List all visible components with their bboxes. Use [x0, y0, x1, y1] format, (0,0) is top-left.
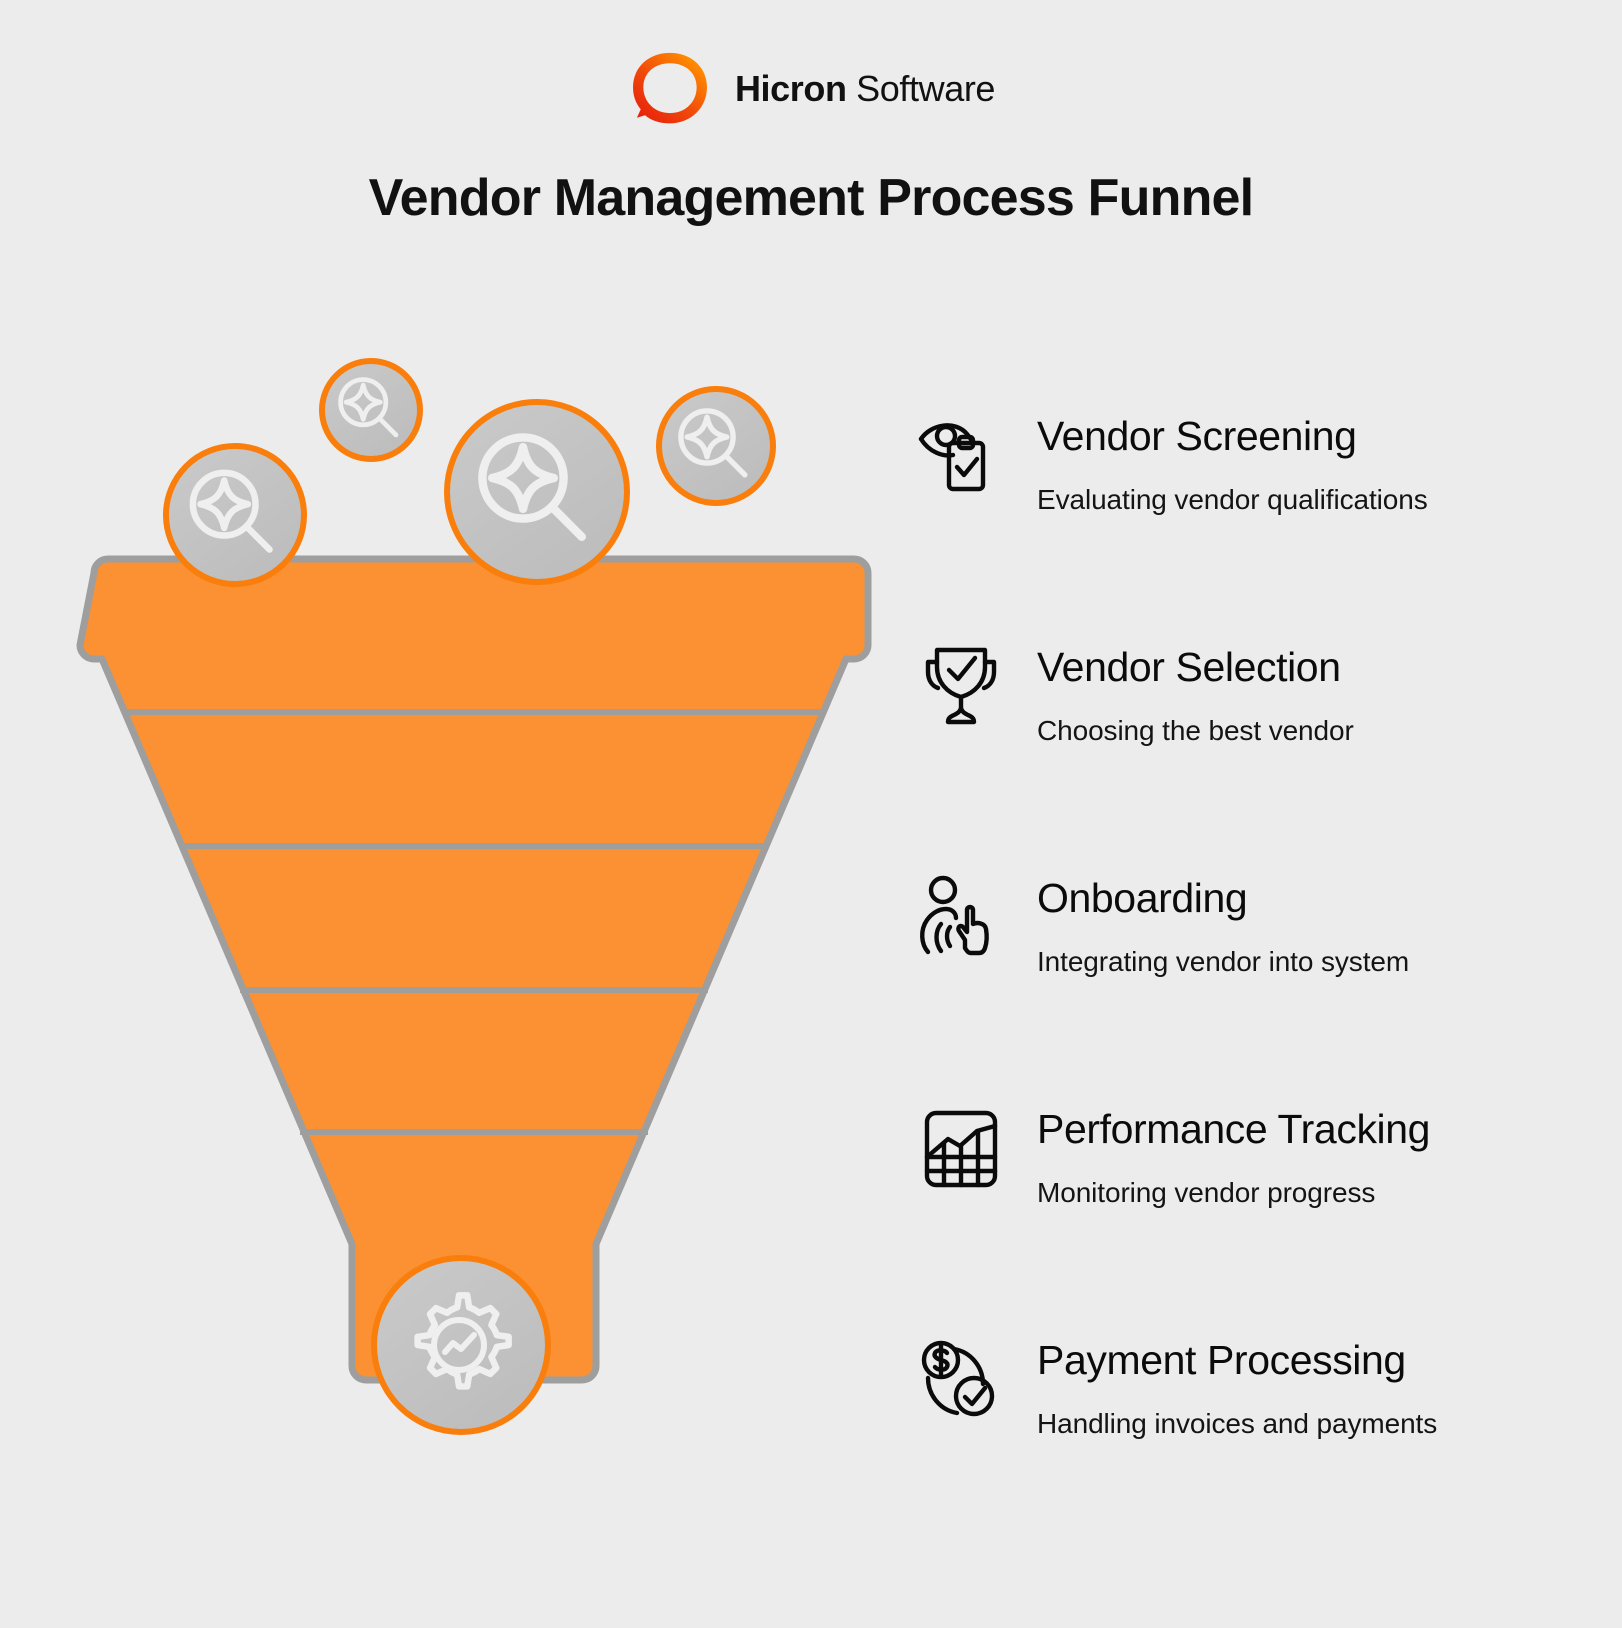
step-item-vendor-screening: Vendor Screening Evaluating vendor quali… [915, 400, 1575, 631]
brand-name-light: Software [847, 68, 995, 109]
hicron-ring-logo-icon [627, 46, 713, 132]
funnel-svg [40, 355, 900, 1475]
step-title: Payment Processing [1037, 1338, 1575, 1383]
brand-name: Hicron Software [735, 68, 995, 110]
step-title: Vendor Selection [1037, 645, 1575, 690]
step-title: Vendor Screening [1037, 414, 1575, 459]
step-item-payment-processing: Payment Processing Handling invoices and… [915, 1324, 1575, 1555]
step-title: Onboarding [1037, 876, 1575, 921]
input-bubble [166, 446, 304, 584]
step-description: Integrating vendor into system [1037, 945, 1575, 979]
step-item-performance-tracking: Performance Tracking Monitoring vendor p… [915, 1093, 1575, 1324]
process-steps-list: Vendor Screening Evaluating vendor quali… [915, 400, 1575, 1555]
dollar-check-cycle-icon [915, 1334, 1007, 1426]
step-description: Evaluating vendor qualifications [1037, 483, 1575, 517]
brand-header: Hicron Software [0, 46, 1622, 132]
step-title: Performance Tracking [1037, 1107, 1575, 1152]
step-description: Handling invoices and payments [1037, 1407, 1575, 1441]
step-item-vendor-selection: Vendor Selection Choosing the best vendo… [915, 631, 1575, 862]
input-bubble [447, 402, 627, 582]
page-title: Vendor Management Process Funnel [0, 168, 1622, 228]
funnel-output-bubble [374, 1258, 548, 1432]
step-description: Monitoring vendor progress [1037, 1176, 1575, 1210]
step-item-onboarding: Onboarding Integrating vendor into syste… [915, 862, 1575, 1093]
funnel-input-bubbles [166, 361, 773, 584]
input-bubble [322, 361, 420, 459]
person-tap-icon [915, 872, 1007, 964]
step-description: Choosing the best vendor [1037, 714, 1575, 748]
input-bubble [659, 389, 773, 503]
trophy-check-icon [915, 641, 1007, 733]
eye-clipboard-check-icon [915, 410, 1007, 502]
chart-grid-icon [915, 1103, 1007, 1195]
brand-name-bold: Hicron [735, 68, 847, 109]
funnel-diagram [40, 355, 900, 1475]
